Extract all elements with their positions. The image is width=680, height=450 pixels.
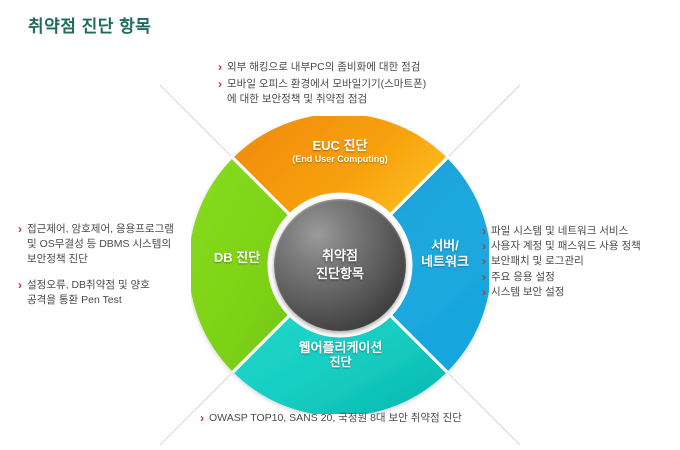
diagram-canvas: EUC 진단 (End User Computing) 서버/ 네트워크 웹어플… xyxy=(0,0,680,450)
callout-right-line-1: 사용자 계정 및 패스워드 사용 정책 xyxy=(482,239,641,254)
callout-right-line-4: 시스템 보안 설정 xyxy=(482,285,641,300)
center-hub-line2: 진단항목 xyxy=(316,265,364,283)
callout-left-line-0-1: 및 OS무결성 등 DBMS 시스템의 xyxy=(18,237,174,252)
callout-left: 접근제어, 암호제어, 응용프로그램 및 OS무결성 등 DBMS 시스템의 보… xyxy=(18,222,174,308)
callout-top-line-1-1: 에 대한 보안정책 및 취약점 점검 xyxy=(218,92,426,107)
callout-left-line-1-0: 설정오류, DB취약점 및 양호 xyxy=(18,278,174,293)
center-hub-line1: 취약점 xyxy=(322,248,358,263)
callout-top-line-0-0: 외부 해킹으로 내부PC의 좀비화에 대한 점검 xyxy=(218,60,426,75)
callout-right-line-2: 보안패치 및 로그관리 xyxy=(482,254,641,269)
donut-chart: EUC 진단 (End User Computing) 서버/ 네트워크 웹어플… xyxy=(191,116,489,414)
center-hub[interactable]: 취약점 진단항목 xyxy=(274,199,406,331)
callout-top: 외부 해킹으로 내부PC의 좀비화에 대한 점검 모바일 오피스 환경에서 모바… xyxy=(218,60,426,108)
callout-left-line-1-1: 공격을 통환 Pen Test xyxy=(18,293,174,308)
callout-bottom: OWASP TOP10, SANS 20, 국정원 8대 보안 취약점 진단 xyxy=(200,411,462,426)
callout-top-group-1: 모바일 오피스 환경에서 모바일기기(스마트폰) 에 대한 보안정책 및 취약점… xyxy=(218,77,426,107)
callout-bottom-line-0: OWASP TOP10, SANS 20, 국정원 8대 보안 취약점 진단 xyxy=(200,411,462,426)
callout-left-line-0-0: 접근제어, 암호제어, 응용프로그램 xyxy=(18,222,174,237)
callout-left-group-1: 설정오류, DB취약점 및 양호 공격을 통환 Pen Test xyxy=(18,278,174,308)
callout-top-line-1-0: 모바일 오피스 환경에서 모바일기기(스마트폰) xyxy=(218,77,426,92)
callout-top-group-0: 외부 해킹으로 내부PC의 좀비화에 대한 점검 xyxy=(218,60,426,75)
callout-left-line-0-2: 보안정책 진단 xyxy=(18,252,174,267)
callout-left-group-0: 접근제어, 암호제어, 응용프로그램 및 OS무결성 등 DBMS 시스템의 보… xyxy=(18,222,174,268)
callout-right-line-0: 파일 시스템 및 네트워크 서비스 xyxy=(482,224,641,239)
center-hub-label: 취약점 진단항목 xyxy=(316,247,364,282)
callout-right-line-3: 주요 응용 설정 xyxy=(482,270,641,285)
callout-right: 파일 시스템 및 네트워크 서비스 사용자 계정 및 패스워드 사용 정책 보안… xyxy=(482,224,641,300)
